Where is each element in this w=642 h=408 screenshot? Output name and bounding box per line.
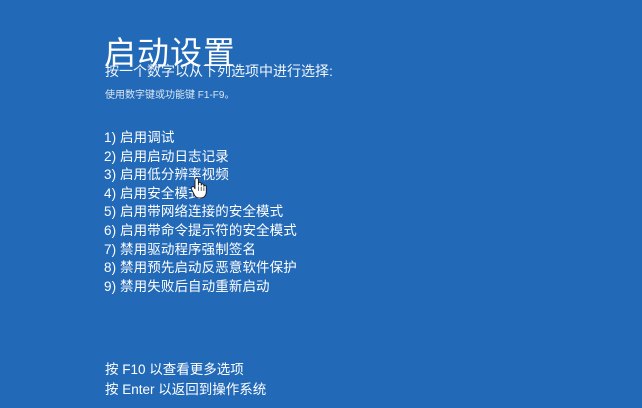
startup-settings-screen: 启动设置 按一个数字以从下列选项中进行选择: 使用数字键或功能键 F1-F9。 … [0, 0, 642, 408]
startup-settings-content: 启动设置 按一个数字以从下列选项中进行选择: 使用数字键或功能键 F1-F9。 … [104, 0, 584, 408]
startup-option-8[interactable]: 8) 禁用预先启动反恶意软件保护 [104, 259, 297, 278]
return-to-os-hint[interactable]: 按 Enter 以返回到操作系统 [105, 380, 266, 400]
startup-option-1[interactable]: 1) 启用调试 [104, 129, 297, 148]
page-subtitle: 按一个数字以从下列选项中进行选择: [105, 62, 333, 80]
keyboard-hint: 使用数字键或功能键 F1-F9。 [105, 89, 234, 103]
startup-option-7[interactable]: 7) 禁用驱动程序强制签名 [104, 241, 297, 260]
startup-option-6[interactable]: 6) 启用带命令提示符的安全模式 [104, 222, 297, 241]
startup-option-4[interactable]: 4) 启用安全模式 [104, 185, 297, 204]
footer-hints: 按 F10 以查看更多选项 按 Enter 以返回到操作系统 [105, 360, 266, 399]
startup-option-5[interactable]: 5) 启用带网络连接的安全模式 [104, 203, 297, 222]
startup-option-9[interactable]: 9) 禁用失败后自动重新启动 [104, 278, 297, 297]
more-options-hint[interactable]: 按 F10 以查看更多选项 [105, 360, 266, 380]
startup-option-3[interactable]: 3) 启用低分辨率视频 [104, 166, 297, 185]
startup-options-list: 1) 启用调试 2) 启用启动日志记录 3) 启用低分辨率视频 4) 启用安全模… [104, 129, 297, 296]
startup-option-2[interactable]: 2) 启用启动日志记录 [104, 148, 297, 167]
